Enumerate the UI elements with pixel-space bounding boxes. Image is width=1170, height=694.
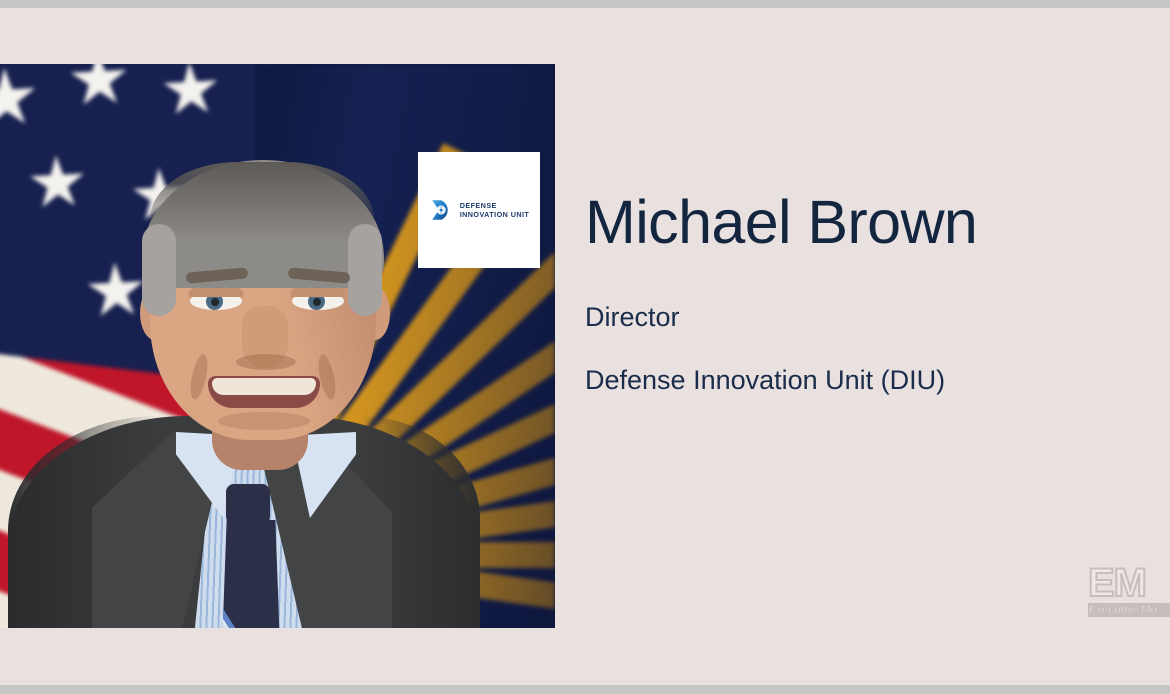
hair-temple-right (348, 224, 382, 316)
speaker-info: Michael Brown Director Defense Innovatio… (585, 190, 1145, 396)
top-chrome-bar (0, 0, 1170, 8)
diu-logo-card: DEFENSE INNOVATION UNIT (418, 152, 540, 268)
diu-mark-icon (429, 197, 455, 223)
diu-wordmark-line1: DEFENSE (460, 201, 530, 211)
speaker-name: Michael Brown (585, 190, 1145, 255)
portrait-subject (0, 64, 555, 628)
speaker-organization: Defense Innovation Unit (DIU) (585, 333, 1145, 396)
eyelid-right (291, 288, 345, 297)
teeth (212, 378, 316, 395)
eyelid-left (189, 288, 243, 297)
watermark-initials: EM (1088, 563, 1170, 603)
necktie (222, 520, 280, 628)
executive-mosaic-watermark: EM Executive Mo (1088, 563, 1170, 625)
necktie-knot (226, 484, 270, 526)
nose-shadow (236, 354, 296, 370)
diu-wordmark: DEFENSE INNOVATION UNIT (460, 201, 530, 220)
speaker-profile-slide: DEFENSE INNOVATION UNIT Michael Brown Di… (0, 0, 1170, 694)
diu-wordmark-line2: INNOVATION UNIT (460, 210, 530, 220)
speaker-title: Director (585, 255, 1145, 333)
chin-shadow (218, 412, 310, 430)
bottom-chrome-bar (0, 685, 1170, 694)
mouth (208, 376, 320, 408)
watermark-name: Executive Mo (1088, 603, 1170, 617)
hair-temple-left (142, 224, 176, 316)
speaker-portrait-photo: DEFENSE INNOVATION UNIT (0, 64, 555, 628)
hair-highlight (150, 162, 374, 242)
